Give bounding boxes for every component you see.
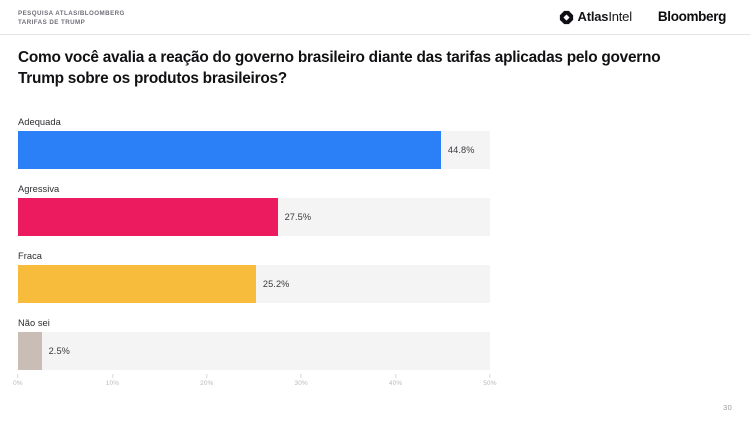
axis-tick: 50%	[483, 374, 496, 387]
axis-tick-mark	[301, 374, 302, 378]
bar-row: Adequada44.8%	[18, 116, 490, 169]
brand-logos: AtlasIntel Bloomberg	[559, 10, 726, 25]
bar-row: Fraca25.2%	[18, 250, 490, 303]
axis-tick-mark	[395, 374, 396, 378]
x-axis: 0%10%20%30%40%50%	[18, 374, 490, 392]
axis-tick: 0%	[13, 374, 23, 387]
bar-value-label: 2.5%	[49, 346, 70, 356]
bar-category-label: Não sei	[18, 317, 490, 329]
bar-track: 27.5%	[18, 198, 490, 236]
axis-tick-mark	[206, 374, 207, 378]
page-title: Como você avalia a reação do governo bra…	[18, 48, 708, 89]
page-number: 30	[723, 403, 732, 412]
bar-fill[interactable]	[18, 198, 278, 236]
axis-tick-label: 20%	[200, 380, 213, 387]
bar-category-label: Agressiva	[18, 183, 490, 195]
kicker-line-2: TARIFAS DE TRUMP	[18, 19, 125, 27]
axis-tick: 30%	[294, 374, 307, 387]
axis-tick-mark	[17, 374, 18, 378]
bar-value-label: 44.8%	[448, 145, 475, 155]
axis-tick-label: 30%	[294, 380, 307, 387]
bar-category-label: Fraca	[18, 250, 490, 262]
kicker-block: PESQUISA ATLAS/BLOOMBERG TARIFAS DE TRUM…	[18, 10, 125, 27]
atlasintel-wordmark: AtlasIntel	[578, 10, 632, 24]
bar-fill[interactable]	[18, 265, 256, 303]
atlas-word-light: Intel	[608, 9, 632, 24]
axis-tick: 20%	[200, 374, 213, 387]
axis-tick: 40%	[389, 374, 402, 387]
bar-row: Agressiva27.5%	[18, 183, 490, 236]
axis-tick-label: 10%	[106, 380, 119, 387]
bar-track: 25.2%	[18, 265, 490, 303]
bar-chart: Adequada44.8%Agressiva27.5%Fraca25.2%Não…	[18, 116, 490, 374]
bar-value-label: 27.5%	[285, 212, 312, 222]
slide-header: PESQUISA ATLAS/BLOOMBERG TARIFAS DE TRUM…	[0, 0, 750, 34]
kicker-line-1: PESQUISA ATLAS/BLOOMBERG	[18, 10, 125, 18]
bar-category-label: Adequada	[18, 116, 490, 128]
bar-row: Não sei2.5%	[18, 317, 490, 370]
bar-track: 2.5%	[18, 332, 490, 370]
bar-fill[interactable]	[18, 332, 42, 370]
slide: PESQUISA ATLAS/BLOOMBERG TARIFAS DE TRUM…	[0, 0, 750, 424]
atlas-word-bold: Atlas	[578, 9, 609, 24]
axis-tick-label: 50%	[483, 380, 496, 387]
header-divider	[0, 34, 750, 35]
bar-track: 44.8%	[18, 131, 490, 169]
axis-tick-label: 40%	[389, 380, 402, 387]
bar-value-label: 25.2%	[263, 279, 290, 289]
axis-tick: 10%	[106, 374, 119, 387]
axis-tick-mark	[489, 374, 490, 378]
axis-tick-mark	[112, 374, 113, 378]
octagon-ring-icon	[559, 10, 574, 25]
bloomberg-logo: Bloomberg	[658, 10, 726, 24]
atlasintel-logo: AtlasIntel	[559, 10, 632, 25]
axis-tick-label: 0%	[13, 380, 23, 387]
bar-fill[interactable]	[18, 131, 441, 169]
